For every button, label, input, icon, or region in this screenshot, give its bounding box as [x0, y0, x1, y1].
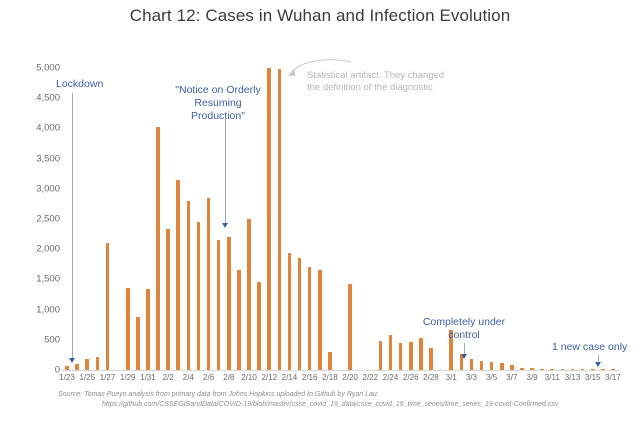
x-axis-tick-label: 3/17	[605, 373, 621, 382]
bar	[500, 363, 504, 370]
x-axis-tick-label: 3/7	[506, 373, 517, 382]
annotation-control-line	[464, 343, 465, 354]
bar	[126, 288, 130, 370]
bar	[237, 270, 241, 370]
bar	[419, 338, 423, 370]
x-axis-tick-label: 2/4	[183, 373, 194, 382]
x-axis-tick-label: 2/14	[282, 373, 298, 382]
chart-page: { "title": "Chart 12: Cases in Wuhan and…	[0, 0, 640, 422]
y-axis-tick-label: 3,500	[36, 153, 60, 164]
bar	[308, 267, 312, 370]
source-note: Source: Tomas Pueyo analysis from primar…	[58, 390, 634, 410]
x-axis-tick-label: 2/10	[241, 373, 257, 382]
source-line-2-url: https://github.com/CSSEGISandData/COVID-…	[102, 400, 634, 410]
x-axis-tick-label: 1/31	[140, 373, 156, 382]
y-axis-tick-label: 4,500	[36, 93, 60, 104]
x-axis-tick-label: 2/22	[363, 373, 379, 382]
x-axis-tick-label: 2/28	[423, 373, 439, 382]
x-axis-tick-label: 2/6	[203, 373, 214, 382]
x-axis: 1/231/251/271/291/312/22/42/62/82/102/12…	[62, 373, 620, 387]
annotation-control-arrow	[461, 354, 467, 359]
x-axis-tick-label: 1/29	[120, 373, 136, 382]
x-axis-tick-label: 3/5	[486, 373, 497, 382]
x-axis-tick-label: 3/11	[545, 373, 560, 382]
annotation-notice: "Notice on Orderly Resuming Production"	[166, 84, 270, 123]
bar	[278, 69, 282, 370]
bar	[399, 343, 403, 370]
annotation-lockdown-arrow	[69, 358, 75, 363]
bar	[379, 341, 383, 370]
bar	[318, 270, 322, 370]
bar	[197, 222, 201, 370]
bar	[389, 335, 393, 370]
y-axis-tick-label: 5,000	[36, 63, 60, 74]
y-axis-tick-label: 2,500	[36, 214, 60, 225]
y-axis-tick-label: 1,000	[36, 304, 60, 315]
bar	[480, 361, 484, 370]
y-axis-tick-label: 4,000	[36, 123, 60, 134]
plot-area	[62, 68, 618, 370]
bar	[207, 198, 211, 370]
y-axis-tick-label: 2,000	[36, 244, 60, 255]
bar	[490, 362, 494, 370]
bar	[247, 219, 251, 370]
bar	[298, 258, 302, 370]
bar	[176, 180, 180, 370]
x-axis-tick-label: 3/1	[446, 373, 457, 382]
bar	[106, 243, 110, 370]
x-axis-tick-label: 1/25	[79, 373, 95, 382]
x-axis-tick-label: 2/20	[342, 373, 358, 382]
annotation-notice-line	[225, 118, 226, 223]
bar	[136, 317, 140, 370]
x-axis-tick-label: 2/12	[261, 373, 277, 382]
y-axis-tick-label: 500	[44, 334, 60, 345]
x-axis-tick-label: 3/9	[527, 373, 538, 382]
bar	[156, 127, 160, 370]
bar	[85, 359, 89, 370]
x-axis-tick-label: 1/27	[100, 373, 116, 382]
x-axis-tick-label: 3/13	[565, 373, 581, 382]
x-axis-tick-label: 2/18	[322, 373, 338, 382]
y-axis-tick-label: 1,500	[36, 274, 60, 285]
source-line-1: Source: Tomas Pueyo analysis from primar…	[58, 391, 379, 398]
y-axis: 05001,0001,5002,0002,5003,0003,5004,0004…	[14, 60, 60, 378]
annotation-artifact-leader-icon	[285, 56, 355, 80]
bar	[409, 342, 413, 370]
bar	[288, 253, 292, 370]
x-axis-tick-label: 2/2	[163, 373, 174, 382]
bar	[257, 282, 261, 370]
annotation-under-control: Completely under control	[419, 316, 509, 342]
x-axis-tick-label: 2/24	[383, 373, 399, 382]
x-axis-tick-label: 2/8	[223, 373, 234, 382]
x-axis-tick-label: 3/3	[466, 373, 477, 382]
annotation-one-case-arrow	[595, 362, 601, 367]
bar-series	[62, 68, 618, 370]
annotation-notice-arrow	[222, 223, 228, 228]
bar	[146, 289, 150, 370]
annotation-lockdown: Lockdown	[56, 78, 103, 91]
x-axis-tick-label: 2/26	[403, 373, 419, 382]
annotation-lockdown-line	[72, 93, 73, 358]
x-axis-tick-label: 3/15	[585, 373, 601, 382]
bar	[227, 237, 231, 370]
bar	[429, 348, 433, 370]
bar	[96, 357, 100, 370]
x-axis-tick-label: 1/23	[59, 373, 75, 382]
y-axis-tick-label: 3,000	[36, 183, 60, 194]
x-axis-tick-label: 2/16	[302, 373, 318, 382]
annotation-one-new-case: 1 new case only	[552, 341, 627, 354]
bar	[166, 229, 170, 370]
bar	[348, 284, 352, 370]
bar	[217, 240, 221, 370]
bar	[187, 201, 191, 370]
x-axis-line	[62, 370, 620, 371]
bar	[470, 359, 474, 370]
page-title: Chart 12: Cases in Wuhan and Infection E…	[0, 6, 640, 26]
bar	[328, 352, 332, 370]
